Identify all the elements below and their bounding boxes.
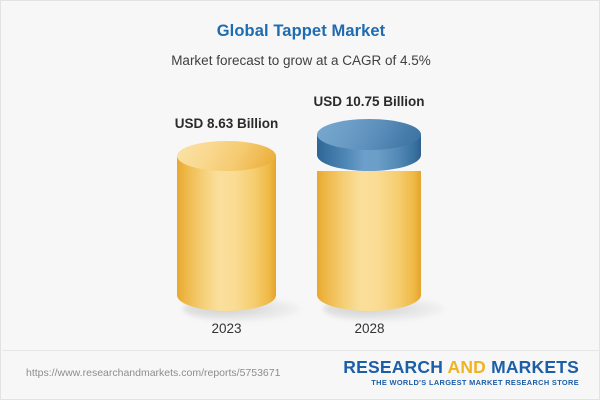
footer: https://www.researchandmarkets.com/repor… [1, 351, 600, 400]
bar-top-cap-2028 [317, 119, 421, 150]
bar-category-label-2023: 2023 [151, 321, 302, 336]
bar-category-label-2028: 2028 [294, 321, 445, 336]
bar-top-cap-2023 [177, 141, 276, 171]
source-url[interactable]: https://www.researchandmarkets.com/repor… [26, 367, 280, 379]
chart-card: Global Tappet Market Market forecast to … [0, 0, 600, 400]
brand-logo[interactable]: RESEARCH AND MARKETS THE WORLD'S LARGEST… [343, 357, 579, 388]
bar-group-2023[interactable]: USD 8.63 Billion 2023 [177, 141, 277, 336]
brand-tagline: THE WORLD'S LARGEST MARKET RESEARCH STOR… [343, 378, 579, 388]
bar-body-base-2028 [317, 171, 421, 311]
brand-wordmark: RESEARCH AND MARKETS [343, 357, 579, 377]
chart-plot-area: USD 8.63 Billion 2023 USD 10.75 Billion … [1, 1, 600, 350]
bar-value-label-2028: USD 10.75 Billion [265, 94, 473, 109]
bar-group-2028[interactable]: USD 10.75 Billion 2028 [317, 119, 421, 336]
brand-word-and: AND [447, 357, 491, 377]
brand-word-markets: MARKETS [491, 357, 579, 377]
bar-body-2023 [177, 156, 276, 311]
brand-word-research: RESEARCH [343, 357, 447, 377]
bar-value-label-2023: USD 8.63 Billion [125, 116, 328, 131]
